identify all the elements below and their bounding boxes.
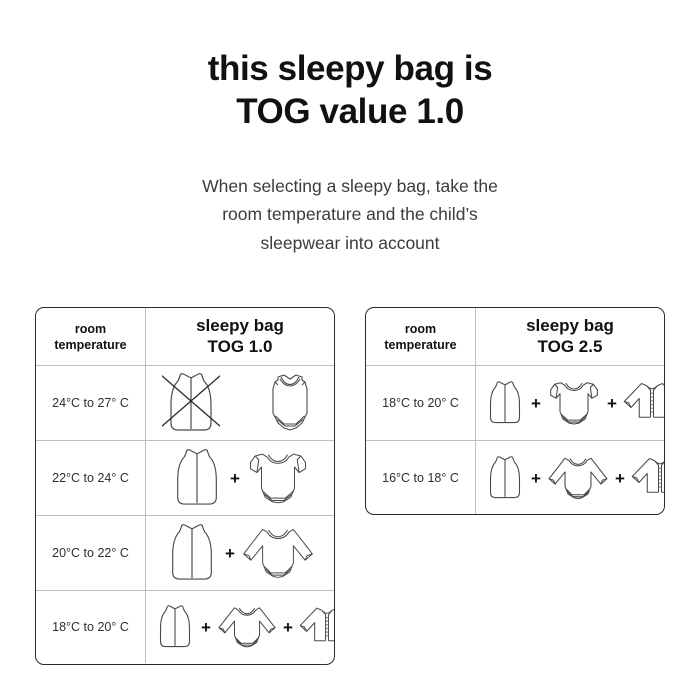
row-temperature: 18°C to 20° C — [36, 591, 146, 663]
cardigan-icon — [622, 379, 665, 427]
short-sleeve-bodysuit-icon — [245, 447, 311, 509]
sleepy-bag-crossed-out-icon — [162, 371, 220, 435]
page-subtitle: When selecting a sleepy bag, take the ro… — [0, 172, 700, 257]
header-room-temperature-line-2: temperature — [54, 338, 126, 352]
row-garments: + + — [476, 441, 665, 515]
row-garments: + — [146, 441, 334, 515]
sleepy-bag-icon — [484, 374, 526, 432]
row-garments: + — [146, 516, 334, 590]
header-sleepy-bag-line-2: TOG 1.0 — [208, 337, 273, 357]
plus-separator: + — [530, 470, 542, 487]
table-row: 24°C to 27° C — [36, 365, 334, 440]
row-garments: + + — [146, 591, 335, 663]
row-temperature: 18°C to 20° C — [366, 366, 476, 440]
header-sleepy-bag-line-1: sleepy bag — [526, 316, 614, 336]
table-row: 18°C to 20° C + — [366, 365, 664, 440]
page-title: this sleepy bag is TOG value 1.0 — [0, 48, 700, 133]
sleepy-bag-icon — [154, 599, 196, 655]
table-row: 16°C to 18° C + — [366, 440, 664, 515]
plus-separator: + — [282, 619, 294, 636]
long-sleeve-bodysuit-icon — [240, 522, 316, 584]
sleepy-bag-icon — [164, 521, 220, 585]
header-room-temperature-line-1: room — [75, 322, 106, 336]
header-room-temperature: room temperature — [36, 308, 146, 365]
header-room-temperature-line-2: temperature — [384, 338, 456, 352]
sleepy-bag-icon — [169, 446, 225, 510]
plus-separator: + — [224, 545, 236, 562]
header-sleepy-bag-line-1: sleepy bag — [196, 316, 284, 336]
tog-2-5-table: room temperature sleepy bag TOG 2.5 18°C… — [365, 307, 665, 515]
row-temperature: 16°C to 18° C — [366, 441, 476, 515]
row-temperature: 24°C to 27° C — [36, 366, 146, 440]
long-sleeve-bodysuit-icon — [546, 452, 610, 504]
header-sleepy-bag-tog: sleepy bag TOG 1.0 — [146, 308, 334, 365]
cardigan-icon — [630, 454, 665, 502]
page-subtitle-line-2: room temperature and the child’s — [0, 200, 700, 228]
table-row: 18°C to 20° C + — [36, 590, 334, 663]
row-temperature: 22°C to 24° C — [36, 441, 146, 515]
row-garments: + + — [476, 366, 665, 440]
table-row: 22°C to 24° C + — [36, 440, 334, 515]
header-room-temperature-line-1: room — [405, 322, 436, 336]
page-title-line-1: this sleepy bag is — [208, 49, 493, 88]
short-sleeve-bodysuit-icon — [262, 373, 318, 433]
plus-separator: + — [606, 395, 618, 412]
long-sleeve-bodysuit-icon — [216, 602, 278, 652]
sleepy-bag-icon — [484, 449, 526, 507]
table-header-row: room temperature sleepy bag TOG 2.5 — [366, 308, 664, 365]
tog-1-0-table: room temperature sleepy bag TOG 1.0 24°C… — [35, 307, 335, 665]
row-garments — [146, 366, 334, 440]
table-header-row: room temperature sleepy bag TOG 1.0 — [36, 308, 334, 365]
plus-separator: + — [229, 470, 241, 487]
plus-separator: + — [200, 619, 212, 636]
page-title-line-2: TOG value 1.0 — [0, 91, 700, 134]
plus-separator: + — [530, 395, 542, 412]
plus-separator: + — [614, 470, 626, 487]
header-sleepy-bag-tog: sleepy bag TOG 2.5 — [476, 308, 664, 365]
table-row: 20°C to 22° C + — [36, 515, 334, 590]
header-sleepy-bag-line-2: TOG 2.5 — [538, 337, 603, 357]
cardigan-icon — [298, 604, 335, 650]
header-room-temperature: room temperature — [366, 308, 476, 365]
page-subtitle-line-1: When selecting a sleepy bag, take the — [0, 172, 700, 200]
page-subtitle-line-3: sleepwear into account — [0, 229, 700, 257]
short-sleeve-bodysuit-icon — [546, 377, 602, 429]
row-temperature: 20°C to 22° C — [36, 516, 146, 590]
